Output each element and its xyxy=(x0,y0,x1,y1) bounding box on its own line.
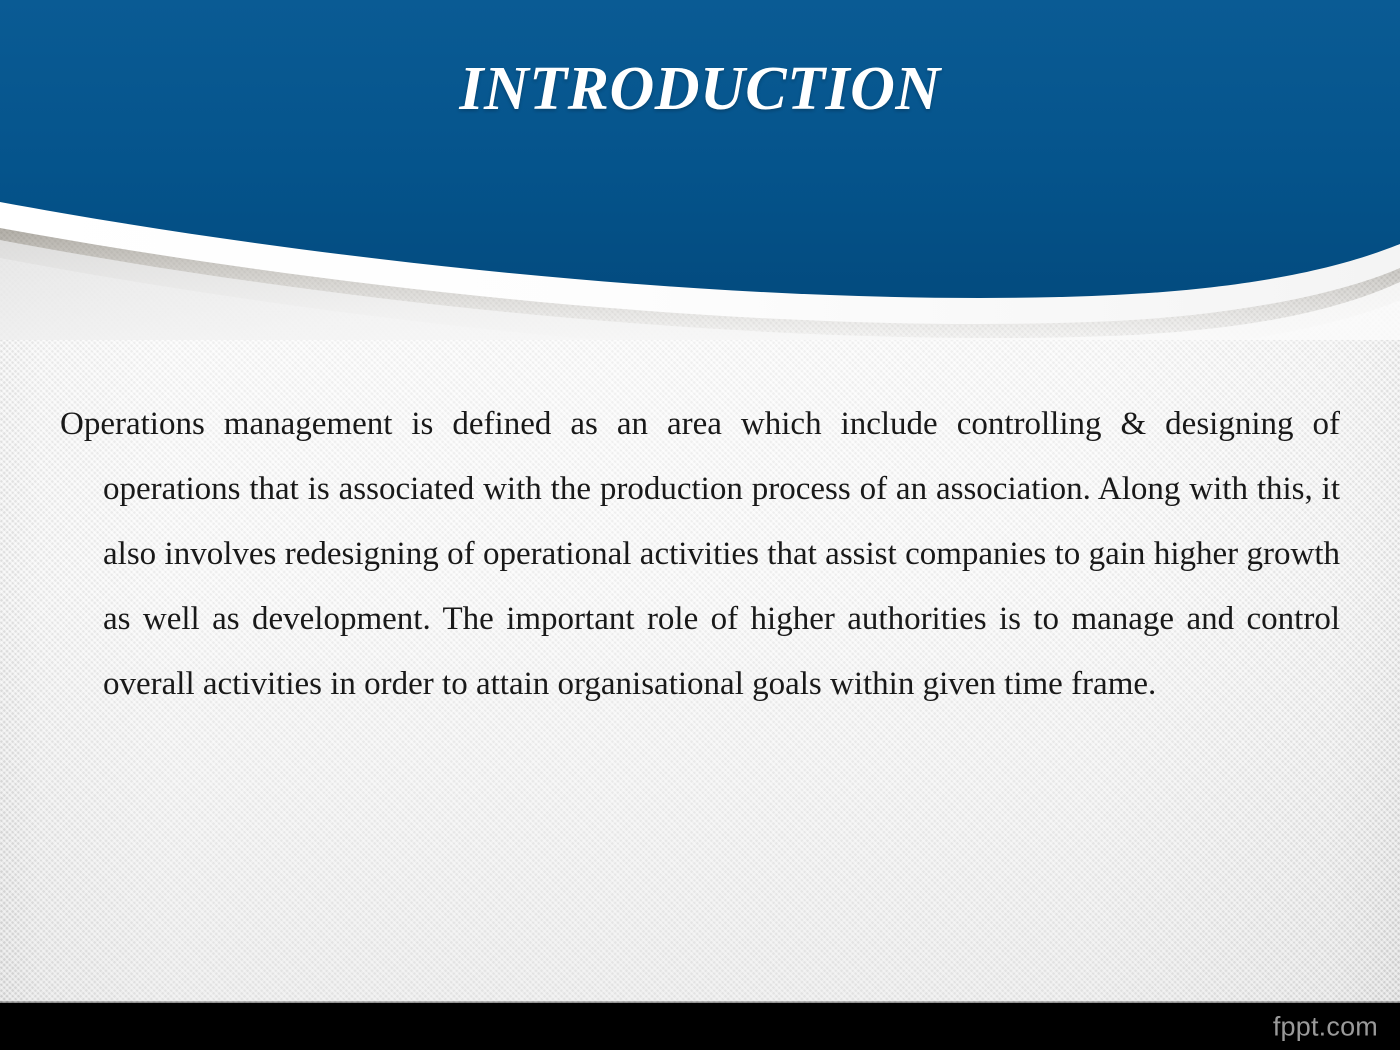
body-paragraph: Operations management is defined as an a… xyxy=(60,392,1340,717)
slide-title: INTRODUCTION xyxy=(0,54,1400,125)
presentation-slide: INTRODUCTION Operations management is de… xyxy=(0,0,1400,1050)
slide-body: Operations management is defined as an a… xyxy=(60,392,1340,717)
fppt-watermark: fppt.com xyxy=(1273,1011,1378,1042)
footer-bar: fppt.com xyxy=(0,1003,1400,1050)
header-banner xyxy=(0,0,1400,340)
